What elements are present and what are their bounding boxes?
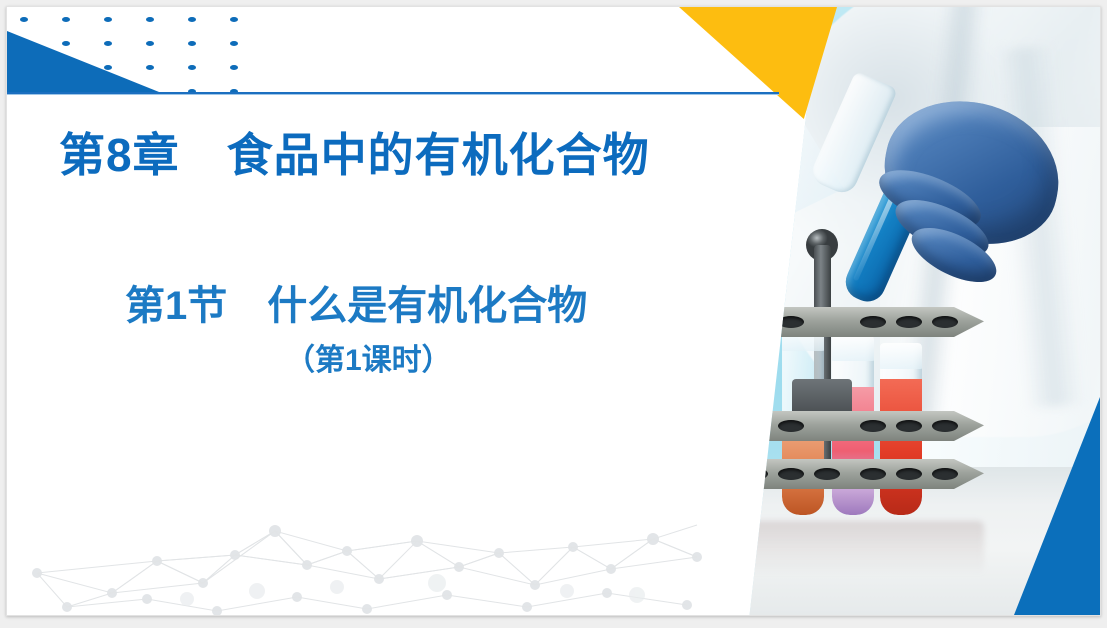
test-tube-orange <box>716 329 758 515</box>
grid-dot <box>104 41 112 46</box>
grid-dot <box>188 65 196 70</box>
molecule-network-decoration <box>7 495 707 615</box>
rack-plate-top <box>684 307 984 337</box>
presentation-slide: 第8章 食品中的有机化合物 第1节 什么是有机化合物 （第1课时） <box>6 6 1101 616</box>
grid-dot <box>230 65 238 70</box>
chemistry-lab-photo <box>670 7 1100 615</box>
title-block: 第8章 食品中的有机化合物 第1节 什么是有机化合物 （第1课时） <box>7 127 707 380</box>
grid-dot <box>188 17 196 22</box>
grid-dot <box>20 17 28 22</box>
grid-dot <box>104 65 112 70</box>
page-title: 第8章 食品中的有机化合物 <box>7 127 707 185</box>
grid-dot <box>62 41 70 46</box>
section-title: 第1节 什么是有机化合物 <box>7 281 707 331</box>
grid-dot <box>146 17 154 22</box>
grid-dot <box>230 17 238 22</box>
grid-dot <box>230 41 238 46</box>
grid-dot <box>146 65 154 70</box>
rack-plate-middle <box>684 411 984 441</box>
glove-finger <box>700 141 794 206</box>
lesson-label: （第1课时） <box>7 341 707 380</box>
grid-dot <box>104 17 112 22</box>
test-tube-rack <box>684 307 984 537</box>
horizontal-blue-rule <box>7 92 779 94</box>
grid-dot <box>146 41 154 46</box>
grid-dot <box>188 41 196 46</box>
rack-plate-bottom <box>684 459 984 489</box>
grid-dot <box>62 17 70 22</box>
